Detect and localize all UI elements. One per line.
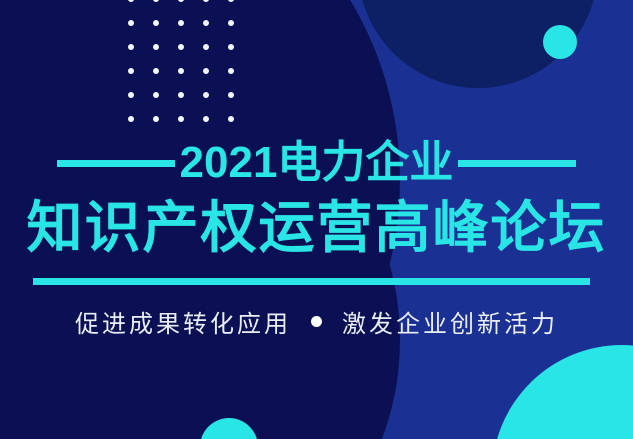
poster-title-line-1: 2021电力企业	[175, 141, 459, 185]
poster-title-line-2: 知识产权运营高峰论坛	[0, 196, 633, 260]
horizontal-divider-icon	[33, 278, 590, 285]
poster-subtitle-right: 激发企业创新活力	[342, 304, 558, 339]
poster-content: 2021电力企业 知识产权运营高峰论坛 促进成果转化应用 激发企业创新活力	[0, 0, 633, 439]
horizontal-rule-left-icon	[57, 160, 175, 167]
poster-headline-top-row: 2021电力企业	[0, 134, 633, 192]
poster-subtitle-left: 促进成果转化应用	[75, 304, 291, 339]
event-poster: 2021电力企业 知识产权运营高峰论坛 促进成果转化应用 激发企业创新活力	[0, 0, 633, 439]
horizontal-rule-right-icon	[458, 160, 576, 167]
bullet-dot-icon	[311, 316, 322, 327]
poster-subtitle-row: 促进成果转化应用 激发企业创新活力	[0, 304, 633, 339]
